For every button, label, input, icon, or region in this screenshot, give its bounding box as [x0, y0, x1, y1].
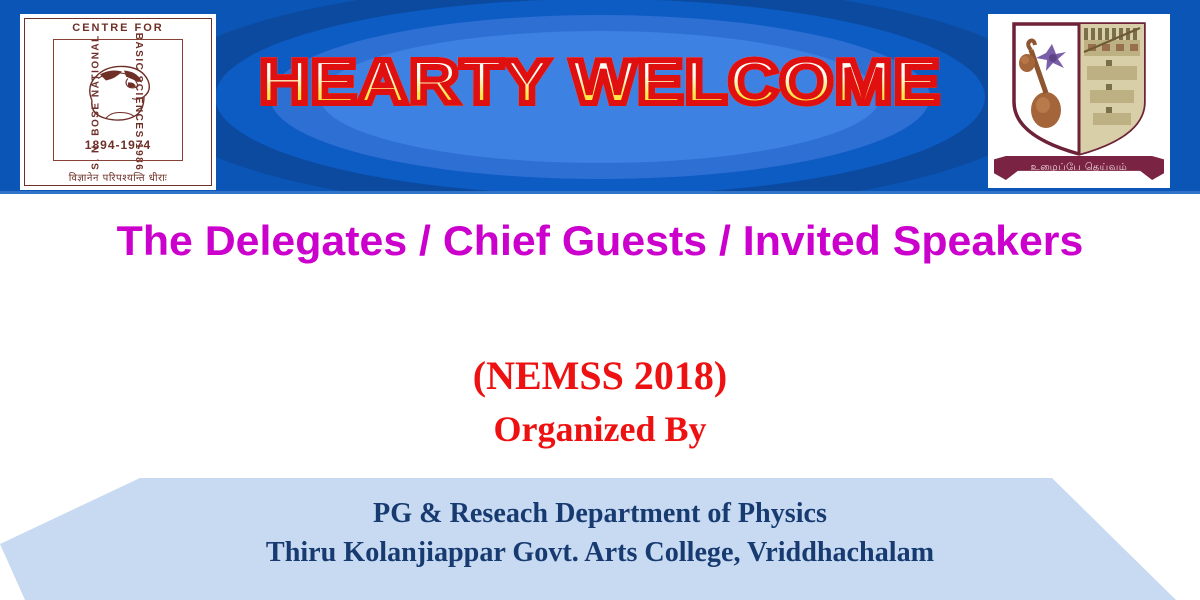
organizer-line-1: PG & Reseach Department of Physics — [18, 494, 1182, 533]
seal-inner-border: 1894-1974 — [53, 39, 183, 161]
organized-by-label: Organized By — [0, 408, 1200, 450]
crest-shield-icon: உழைப்பே தெய்வம் — [988, 14, 1170, 188]
seal-motto-text: विज्ञानेन परिपश्यन्ति धीराः — [25, 170, 211, 184]
seal-years-text: 1894-1974 — [54, 138, 182, 152]
crest-motto-ribbon: உழைப்பே தெய்வம் — [994, 156, 1164, 180]
sn-bose-portrait-icon — [76, 56, 160, 129]
event-code-text: (NEMSS 2018) — [0, 352, 1200, 399]
sn-bose-centre-logo: CENTRE FOR S. N. BOSE NATIONAL BASIC SCI… — [20, 14, 216, 190]
thiru-kolanjiappar-college-crest: உழைப்பே தெய்வம் — [988, 14, 1170, 188]
welcome-slide: HEARTY WELCOME CENTRE FOR S. N. BOSE NAT… — [0, 0, 1200, 600]
delegates-heading: The Delegates / Chief Guests / Invited S… — [49, 214, 1151, 267]
organizer-line-2: Thiru Kolanjiappar Govt. Arts College, V… — [18, 533, 1182, 572]
seal-top-text: CENTRE FOR — [25, 22, 211, 34]
organizer-banner-text: PG & Reseach Department of Physics Thiru… — [18, 494, 1182, 571]
seal-border: CENTRE FOR S. N. BOSE NATIONAL BASIC SCI… — [24, 18, 212, 186]
